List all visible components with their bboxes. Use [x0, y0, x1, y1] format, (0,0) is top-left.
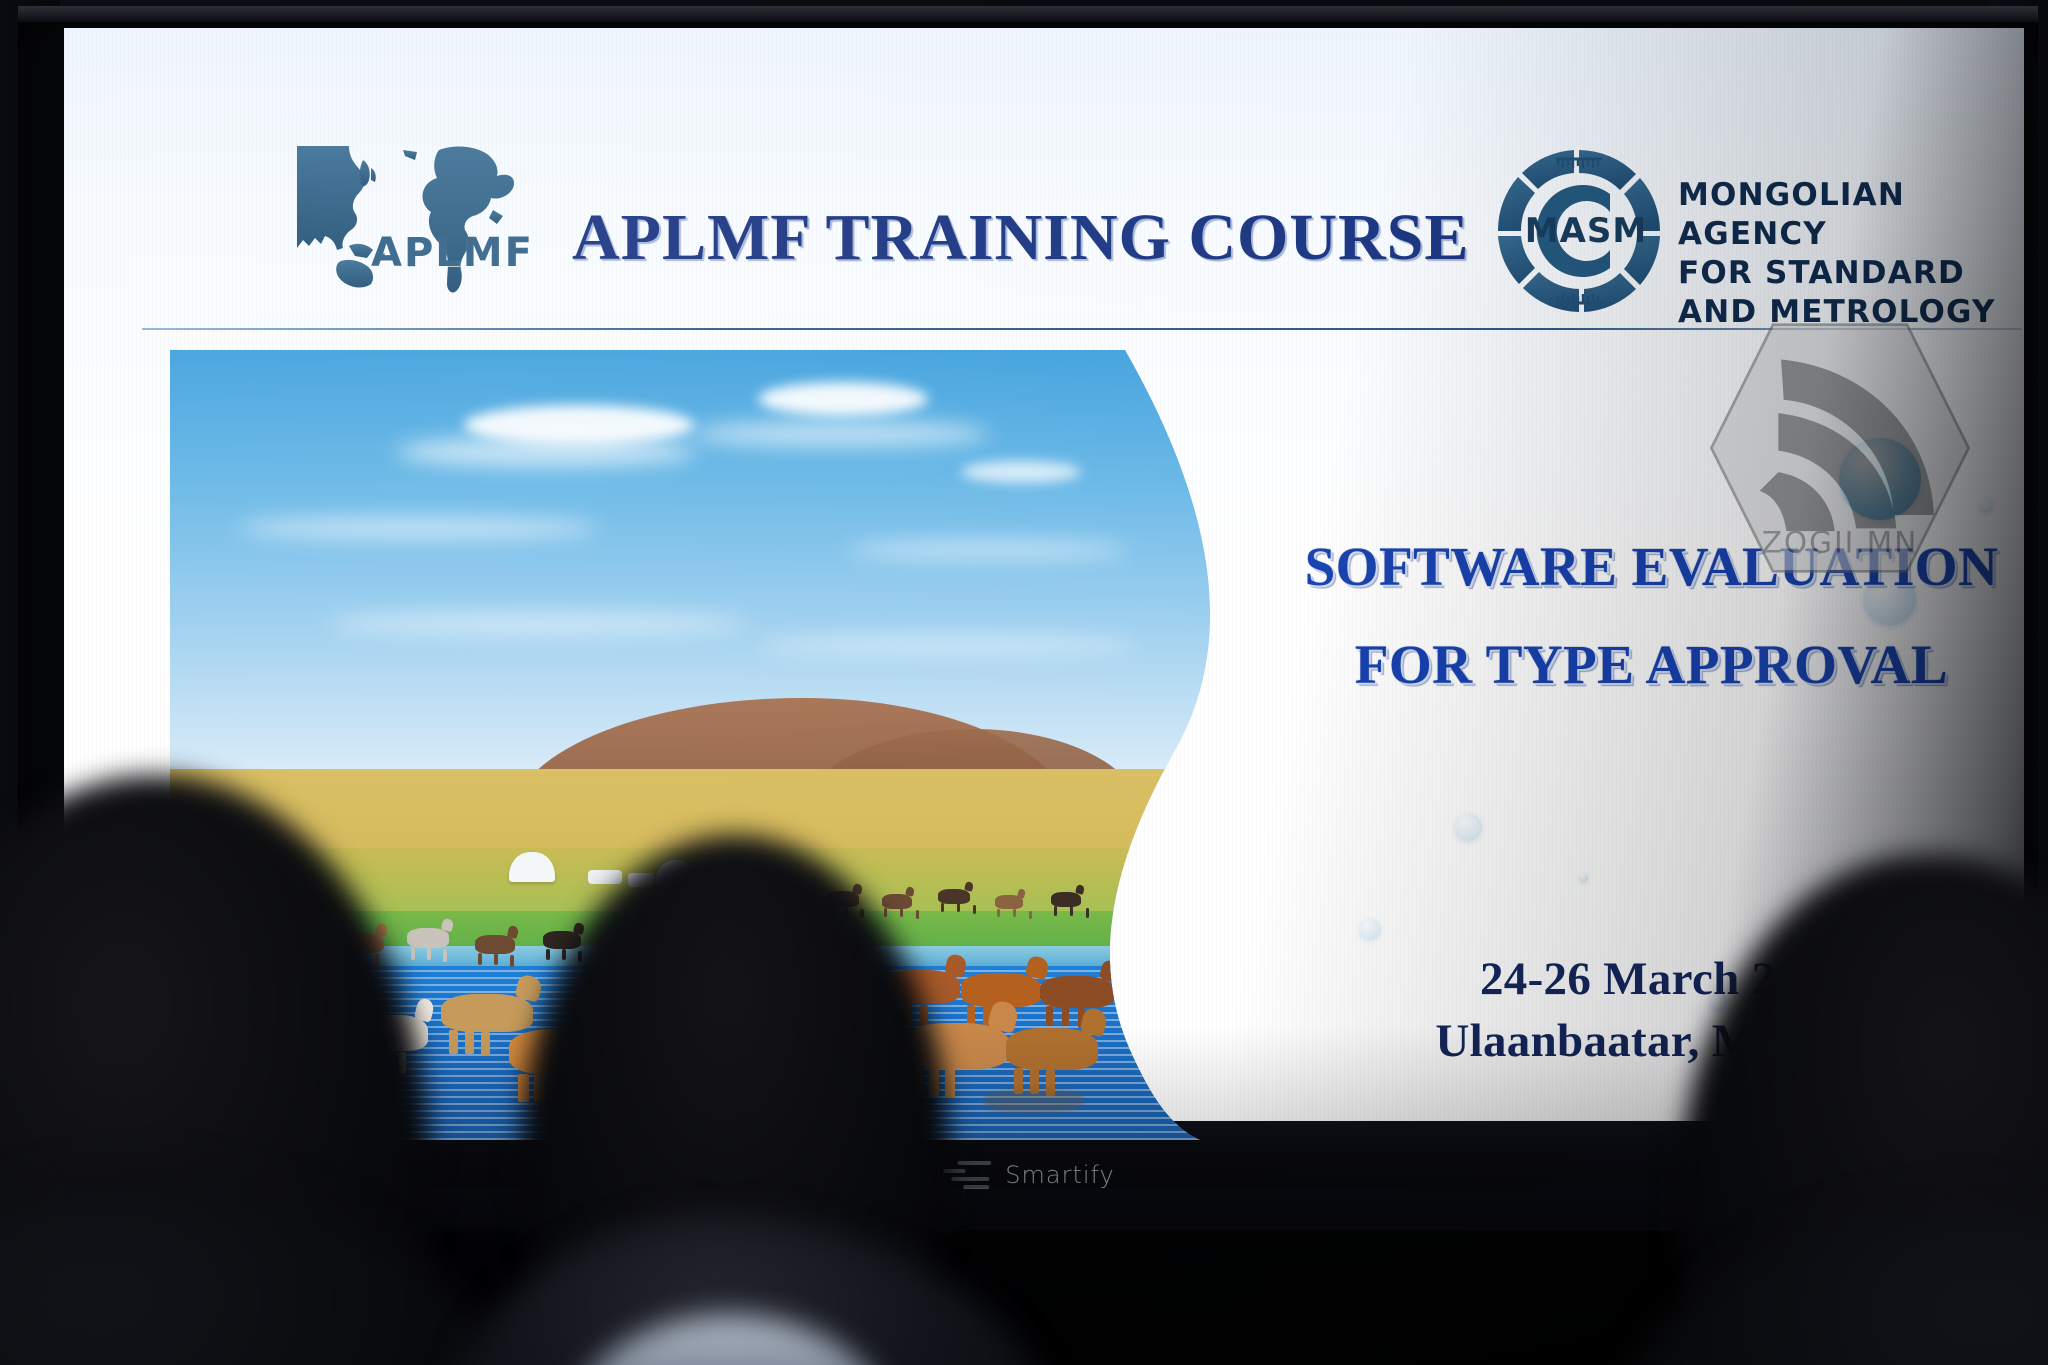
horse [938, 889, 970, 904]
decor-bubble [1579, 873, 1588, 882]
slide-course-title: APLMF TRAINING COURSE [572, 200, 1432, 276]
display-brand: Smartify [941, 1161, 1115, 1189]
agency-name-line-1: MONGOLIAN AGENCY [1678, 176, 2024, 254]
agency-name: MONGOLIAN AGENCY FOR STANDARD AND METROL… [1678, 176, 2024, 332]
display-bezel-top [18, 6, 2038, 22]
agency-name-line-2: FOR STANDARD [1678, 254, 2024, 293]
horse [441, 994, 533, 1032]
horse [475, 935, 515, 954]
conference-room-scene: APLMF APLMF TRAINING COURSE [0, 0, 2048, 1365]
aplmf-wordmark: APLMF [371, 230, 534, 276]
aplmf-world-map-icon: APLMF [279, 138, 539, 298]
zogii-watermark-icon: ZOGII.MN [1706, 314, 1974, 582]
watermark-label: ZOGII.MN [1762, 526, 1919, 560]
horse [1040, 976, 1114, 1008]
horse [1006, 1028, 1098, 1070]
decor-bubble [1454, 813, 1482, 841]
display-brand-label: Smartify [1005, 1161, 1115, 1189]
masm-ring-icon: MASM [1494, 146, 1664, 316]
horse [882, 894, 912, 909]
decor-bubble [1979, 498, 1993, 512]
horse [407, 928, 449, 948]
subject-line-2: FOR TYPE APPROVAL [1279, 616, 2024, 714]
svg-text:MASM: MASM [1525, 211, 1647, 251]
horse [995, 895, 1023, 909]
vehicle-1 [588, 870, 622, 884]
horse [1119, 898, 1145, 911]
slide-header: APLMF APLMF TRAINING COURSE [64, 28, 2024, 328]
horse [1051, 892, 1081, 907]
decor-bubble [1359, 918, 1381, 940]
